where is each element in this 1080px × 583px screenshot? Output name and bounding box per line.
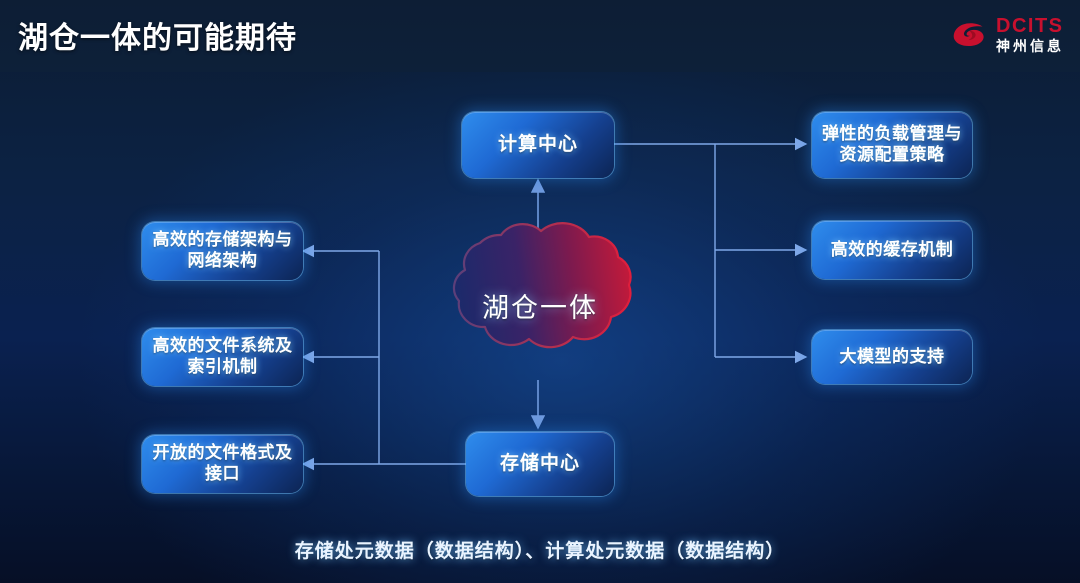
node-compute-center-label: 计算中心 [498,133,578,156]
node-storage-architecture[interactable]: 高效的存储架构与网络架构 [142,222,303,280]
node-elastic-workload[interactable]: 弹性的负载管理与资源配置策略 [812,112,972,178]
node-open-file-format[interactable]: 开放的文件格式及接口 [142,435,303,493]
logo-english-name: DCITS [996,16,1064,36]
node-file-system-index-label: 高效的文件系统及索引机制 [150,336,295,377]
node-storage-center[interactable]: 存储中心 [466,432,614,496]
slide-header: 湖仓一体的可能期待 DCITS 神州信息 [0,0,1080,72]
slide-caption: 存储处元数据（数据结构）、计算处元数据（数据结构） [0,536,1080,563]
logo-chinese-name: 神州信息 [996,39,1064,53]
node-efficient-cache[interactable]: 高效的缓存机制 [812,221,972,279]
cloud-label: 湖仓一体 [405,215,675,395]
node-storage-architecture-label: 高效的存储架构与网络架构 [150,230,295,271]
node-compute-center[interactable]: 计算中心 [462,112,614,178]
slide-canvas: 湖仓一体的可能期待 DCITS 神州信息 [0,0,1080,583]
node-efficient-cache-label: 高效的缓存机制 [831,240,954,261]
node-elastic-workload-label: 弹性的负载管理与资源配置策略 [820,124,964,165]
node-large-model-support[interactable]: 大模型的支持 [812,330,972,384]
node-large-model-support-label: 大模型的支持 [840,347,945,368]
brand-logo: DCITS 神州信息 [949,12,1064,56]
node-open-file-format-label: 开放的文件格式及接口 [150,443,295,484]
page-title: 湖仓一体的可能期待 [18,13,297,57]
central-cloud: 湖仓一体 [405,215,675,395]
dcits-swoosh-icon [949,17,989,51]
node-storage-center-label: 存储中心 [500,452,580,475]
node-file-system-index[interactable]: 高效的文件系统及索引机制 [142,328,303,386]
logo-text-block: DCITS 神州信息 [996,16,1064,53]
